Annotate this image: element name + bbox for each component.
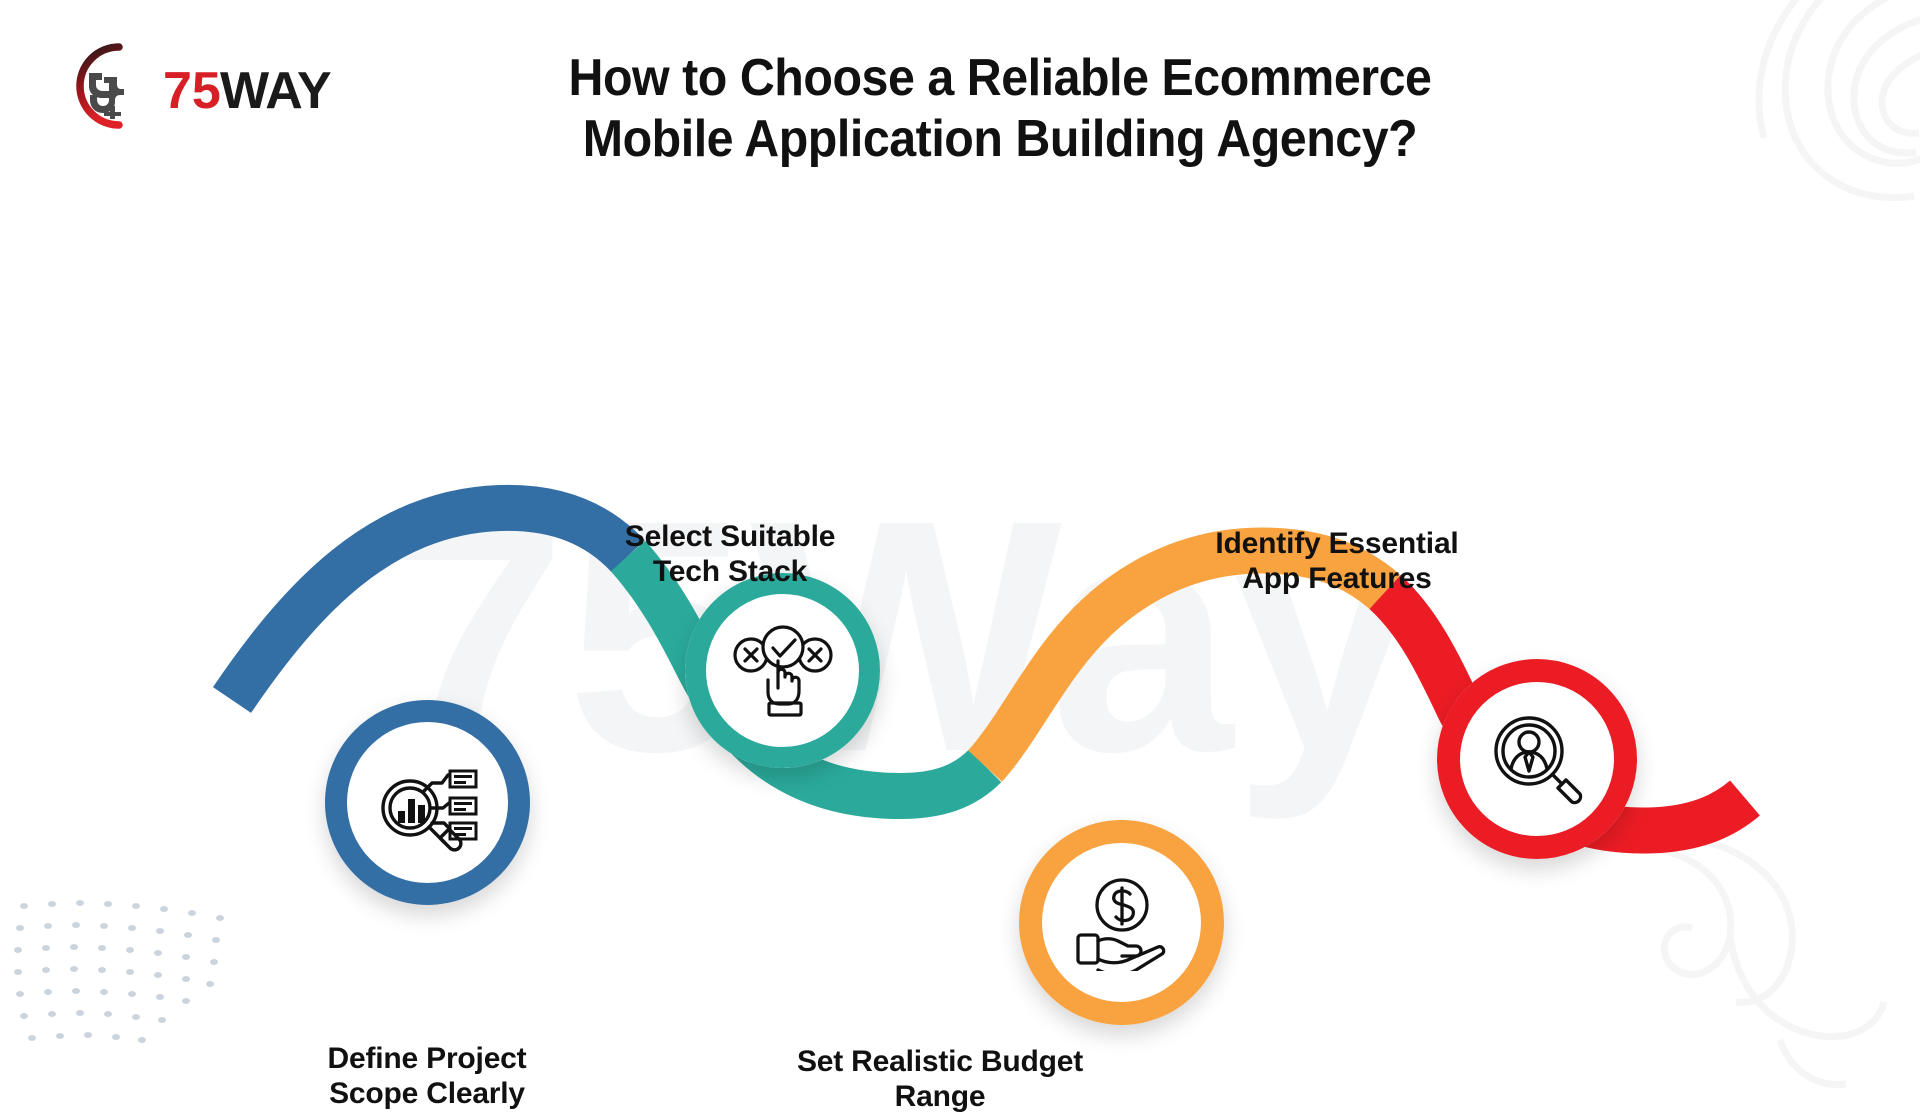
- logo-text-way: WAY: [220, 62, 331, 120]
- step-label-1: Define Project Scope Clearly: [227, 1042, 627, 1112]
- step-node-4[interactable]: [1437, 659, 1637, 859]
- magnifier-bar-chart-icon: [374, 753, 482, 853]
- header: 75 WAY How to Choose a Reliable Ecommerc…: [0, 0, 1920, 210]
- magnifier-person-icon: [1487, 709, 1587, 809]
- 75way-logo[interactable]: 75 WAY: [48, 36, 348, 136]
- step-label-4: Identify Essential App Features: [1137, 527, 1537, 597]
- infographic-canvas: 75Way: [0, 0, 1920, 1080]
- hand-holding-dollar-coin-icon: [1070, 875, 1174, 971]
- step-label-2: Select Suitable Tech Stack: [530, 520, 930, 590]
- four-step-wave-flow: Define Project Scope Clearly Select Suit…: [0, 200, 1920, 920]
- step-node-3[interactable]: [1019, 820, 1224, 1025]
- logo-text-75: 75: [163, 62, 221, 120]
- step-node-2[interactable]: [685, 573, 880, 768]
- wave-connector-path: [0, 200, 1920, 920]
- hand-select-checkmark-icon: [731, 621, 835, 721]
- step-node-1[interactable]: [325, 700, 530, 905]
- page-title: How to Choose a Reliable Ecommerce Mobil…: [461, 48, 1540, 171]
